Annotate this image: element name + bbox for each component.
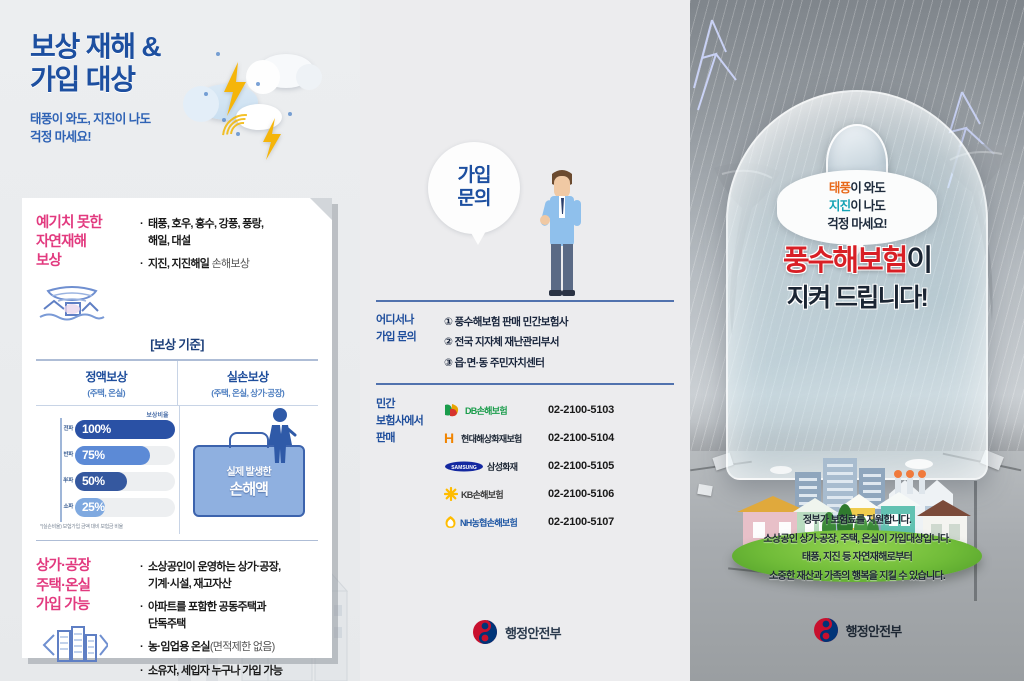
card-folded-corner [310, 198, 332, 220]
bullet-dot-icon: · [140, 599, 148, 632]
insurer-logo: H 현대해상화재보험 [444, 431, 548, 445]
table-row: SAMSUNG 삼성화재 02-2100-5105 [444, 452, 614, 480]
bullet-light: (면적제한 없음) [210, 641, 275, 653]
bullet-dot-icon: · [140, 663, 148, 680]
criteria-content: 보상비율 전파 100% 반파 75% [36, 406, 318, 534]
rain-cloud-icon [196, 84, 258, 120]
bar-value: 25% [75, 498, 105, 517]
sellers-label-line2: 보험사에서 [376, 413, 444, 430]
taegeuk-logo [472, 619, 498, 645]
left-subtitle: 태풍이 와도, 지진이 나도 걱정 마세요! [30, 110, 160, 146]
left-title-line1: 보상 재해 & [30, 30, 160, 63]
bullet-text: 지진, 지진해일 손해보상 [148, 256, 318, 273]
bubble-highlight-earthquake: 지진 [829, 199, 850, 213]
cloud-icon [905, 459, 933, 469]
bar-category-label: 소파 [62, 505, 75, 511]
chart-caption: 보상비율 [146, 410, 168, 419]
column-scope: (주택, 온실) [36, 387, 177, 399]
bullet-main: 지진, 지진해일 [148, 258, 209, 270]
insurer-phone[interactable]: 02-2100-5106 [548, 488, 614, 500]
insurer-phone[interactable]: 02-2100-5104 [548, 432, 614, 444]
insurer-name: KB손해보험 [461, 488, 503, 501]
section2-heading: 상가·공장 주택·온실 가입 가능 [36, 557, 140, 614]
insurer-phone[interactable]: 02-2100-5107 [548, 516, 614, 528]
bullet-text: 태풍, 호우, 홍수, 강풍, 풍랑, 해일, 대설 [148, 216, 318, 249]
table-row: DB손해보험 02-2100-5103 [444, 396, 614, 424]
inquiry-speech-bubble: 가입 문의 [428, 142, 520, 234]
svg-text:H: H [444, 431, 454, 445]
left-panel: 보상 재해 & 가입 대상 태풍이 와도, 지진이 나도 걱정 마세요! 예기치… [0, 0, 360, 681]
bullet-main: 태풍, 호우, 홍수, 강풍, 풍랑, [148, 218, 263, 230]
column-title: 정액보상 [36, 368, 177, 385]
column-scope: (주택, 온실, 상가·공장) [178, 387, 319, 399]
raindrop-icon [216, 52, 220, 56]
right-footer-text: 정부가 보험료를 지원합니다. 소상공인 상가·공장, 주택, 온실이 가입대상… [690, 512, 1024, 586]
bullet-main2: 기계·시설, 재고자산 [148, 578, 231, 590]
bubble-line3: 걱정 마세요! [783, 215, 931, 233]
sellers-label-line1: 민간 [376, 396, 444, 413]
bubble-highlight-typhoon: 태풍 [829, 181, 850, 195]
flood-house-icon [36, 279, 108, 321]
criteria-columns: 정액보상 (주택, 온실) 실손보상 (주택, 온실, 상가·공장) [36, 361, 318, 405]
list-item: · 소유자, 세입자 누구나 가입 가능 [140, 663, 318, 680]
list-item: ① 풍수해보험 판매 민간보험사 [444, 312, 568, 332]
bullet-dot-icon: · [140, 559, 148, 592]
headline-particle: 이 [906, 245, 931, 277]
chart-bar-row: 半파 50% [62, 470, 175, 493]
section1-heading-line1: 예기치 못한 [36, 214, 140, 233]
right-headline: 풍수해보험이 지켜 드립니다! [690, 246, 1024, 314]
kb-star-icon [444, 487, 458, 501]
bullet-dot-icon: · [140, 639, 148, 656]
wind-arc-icon [219, 111, 270, 162]
bar-category-label: 전파 [62, 427, 75, 433]
insurer-phone[interactable]: 02-2100-5105 [548, 460, 614, 472]
chart-bars: 전파 100% 반파 75% 半파 [36, 418, 175, 519]
loss-box-line2: 손해액 [230, 478, 268, 499]
wind-arc-icon [213, 105, 278, 170]
section1-heading-line2: 자연재해 [36, 233, 140, 252]
criteria-title: [보상 기준] [22, 334, 332, 359]
section2-heading-line3: 가입 가능 [36, 596, 140, 615]
insurer-name: DB손해보험 [465, 404, 507, 417]
section2-heading-line2: 주택·온실 [36, 577, 140, 596]
debris-chunk [697, 484, 713, 496]
left-title: 보상 재해 & 가입 대상 [30, 30, 160, 96]
bullet-main2: 단독주택 [148, 618, 186, 630]
insurer-name: 삼성화재 [487, 460, 517, 473]
bar-track: 100% [75, 420, 175, 439]
raindrop-icon [222, 118, 226, 122]
insurer-logo: KB손해보험 [444, 487, 548, 501]
bullet-text: 소상공인이 운영하는 상가·공장, 기계·시설, 재고자산 [148, 559, 318, 592]
insurer-logo: DB손해보험 [444, 403, 548, 417]
compensation-ratio-chart: 보상비율 전파 100% 반파 75% [36, 406, 179, 534]
section1-heading: 예기치 못한 자연재해 보상 [36, 214, 140, 271]
list-item: · 아파트를 포함한 공동주택과 단독주택 [140, 599, 318, 632]
list-item: ③ 읍·면·동 주민자치센터 [444, 353, 568, 373]
bullet-dot-icon: · [140, 216, 148, 249]
table-row: NH농협손해보험 02-2100-5107 [444, 508, 614, 536]
section2-heading-block: 상가·공장 주택·온실 가입 가능 [36, 557, 140, 681]
column-title: 실손보상 [178, 368, 319, 385]
svg-text:SAMSUNG: SAMSUNG [451, 465, 477, 471]
bar-track: 25% [75, 498, 175, 517]
footer-line: 태풍, 지진 등 자연재해로부터 [690, 549, 1024, 568]
ministry-logo-block: 행정안전부 [690, 617, 1024, 643]
insurer-name: 현대해상화재보험 [461, 432, 522, 445]
brochure-page: 보상 재해 & 가입 대상 태풍이 와도, 지진이 나도 걱정 마세요! 예기치… [0, 0, 1024, 681]
footer-line: 정부가 보험료를 지원합니다. [690, 512, 1024, 531]
inquiry-label-line2: 가입 문의 [376, 329, 444, 346]
cloud-icon [770, 466, 792, 474]
headline-product-name: 풍수해보험 [783, 245, 906, 277]
inquiry-list: ① 풍수해보험 판매 민간보험사 ② 전국 지자체 재난관리부서 ③ 읍·면·동… [444, 312, 568, 373]
left-subtitle-line2: 걱정 마세요! [30, 128, 160, 146]
chart-bar-row: 반파 75% [62, 444, 175, 467]
insurer-logo: NH농협손해보험 [444, 515, 548, 529]
list-item: · 소상공인이 운영하는 상가·공장, 기계·시설, 재고자산 [140, 559, 318, 592]
bar-track: 50% [75, 472, 175, 491]
inquiry-label: 어디서나 가입 문의 [376, 312, 444, 373]
section1-heading-line3: 보상 [36, 252, 140, 271]
businessman-icon [263, 407, 297, 463]
bullet-light: 손해보상 [212, 258, 250, 270]
table-row: H 현대해상화재보험 02-2100-5104 [444, 424, 614, 452]
bubble-line1: 가입 [458, 165, 491, 188]
right-panel: 태풍이 와도 지진이 나도 걱정 마세요! 풍수해보험이 지켜 드립니다! 정부… [690, 0, 1024, 681]
column-actual-compensation: 실손보상 (주택, 온실, 상가·공장) [177, 361, 319, 405]
bar-value: 50% [75, 472, 127, 491]
headline-line1: 풍수해보험이 [690, 246, 1024, 276]
actual-loss-illustration: 실제 발생한 손해액 [179, 406, 319, 534]
ministry-name: 행정안전부 [505, 623, 561, 642]
bubble-text: 이 나도 [850, 199, 885, 213]
insurer-logo: SAMSUNG 삼성화재 [444, 460, 548, 473]
samsung-logo-icon: SAMSUNG [444, 461, 484, 472]
divider [376, 300, 674, 302]
left-subtitle-line1: 태풍이 와도, 지진이 나도 [30, 110, 160, 128]
footer-line: 소중한 재산과 가족의 행복을 지킬 수 있습니다. [690, 568, 1024, 587]
chart-axis [60, 418, 62, 522]
right-speech-bubble: 태풍이 와도 지진이 나도 걱정 마세요! [777, 170, 937, 245]
sellers-label-line3: 판매 [376, 430, 444, 447]
section-natural-disaster: 예기치 못한 자연재해 보상 [22, 198, 332, 330]
ministry-logo-block: 행정안전부 [472, 619, 561, 645]
headline-line2: 지켜 드립니다! [690, 278, 1024, 314]
bar-category-label: 半파 [62, 479, 75, 485]
left-header: 보상 재해 & 가입 대상 태풍이 와도, 지진이 나도 걱정 마세요! [30, 30, 160, 146]
nh-logo-icon [444, 515, 457, 529]
section2-heading-line1: 상가·공장 [36, 557, 140, 576]
bar-value: 100% [75, 420, 175, 439]
db-logo-icon [444, 403, 462, 417]
left-title-line2: 가입 대상 [30, 63, 160, 96]
bullet-main: 아파트를 포함한 공동주택과 [148, 601, 266, 613]
list-item: · 태풍, 호우, 홍수, 강풍, 풍랑, 해일, 대설 [140, 216, 318, 249]
bullet-text: 농·임업용 온실(면적제한 없음) [148, 639, 318, 656]
bullet-main: 소유자, 세입자 누구나 가입 가능 [148, 663, 318, 680]
section1-heading-block: 예기치 못한 자연재해 보상 [36, 214, 140, 326]
businessman-pointing-icon [538, 160, 586, 300]
insurer-name: NH농협손해보험 [460, 516, 517, 529]
chart-footnote: *(실손비율) 보험가입 금액 대비 보험금 비율 [40, 523, 175, 530]
chart-bar-row: 전파 100% [62, 418, 175, 441]
taegeuk-logo [813, 617, 839, 643]
inquiry-section: 어디서나 가입 문의 ① 풍수해보험 판매 민간보험사 ② 전국 지자체 재난관… [376, 312, 676, 373]
column-fixed-compensation: 정액보상 (주택, 온실) [36, 361, 177, 405]
cloud-icon [258, 54, 314, 88]
section2-bullets: · 소상공인이 운영하는 상가·공장, 기계·시설, 재고자산 · 아파트를 포… [140, 557, 318, 681]
bubble-text: 이 와도 [850, 181, 885, 195]
raindrop-icon [204, 92, 208, 96]
sellers-list: DB손해보험 02-2100-5103 H 현대해상화재보험 02-2100-5… [444, 396, 614, 536]
bubble-line2: 문의 [458, 188, 491, 211]
ministry-name: 행정안전부 [846, 621, 902, 640]
list-item: · 지진, 지진해일 손해보상 [140, 256, 318, 273]
bullet-text: 아파트를 포함한 공동주택과 단독주택 [148, 599, 318, 632]
raindrop-icon [256, 82, 260, 86]
bubble-line1: 태풍이 와도 [783, 179, 931, 197]
middle-panel: 가입 문의 어디서나 가입 문의 ① 풍수해보험 판매 민간보험사 [360, 0, 690, 681]
bullet-main: 소상공인이 운영하는 상가·공장, [148, 561, 281, 573]
section-eligibility: 상가·공장 주택·온실 가입 가능 [22, 541, 332, 681]
buildings-icon [36, 623, 108, 665]
section1-bullets: · 태풍, 호우, 홍수, 강풍, 풍랑, 해일, 대설 · 지진, 지진해일 … [140, 214, 318, 326]
chart-bar-row: 소파 25% [62, 496, 175, 519]
bar-category-label: 반파 [62, 453, 75, 459]
inquiry-label-line1: 어디서나 [376, 312, 444, 329]
table-row: KB손해보험 02-2100-5106 [444, 480, 614, 508]
sellers-section: 민간 보험사에서 판매 DB손해보험 02-2100-5103 [376, 396, 676, 536]
raindrop-icon [236, 132, 240, 136]
briefcase-icon: 실제 발생한 손해액 [193, 445, 305, 517]
list-item: ② 전국 지자체 재난관리부서 [444, 332, 568, 352]
footer-line: 소상공인 상가·공장, 주택, 온실이 가입대상입니다. [690, 531, 1024, 550]
sellers-label: 민간 보험사에서 판매 [376, 396, 444, 536]
insurer-phone[interactable]: 02-2100-5103 [548, 404, 614, 416]
bullet-main: 농·임업용 온실 [148, 641, 210, 653]
bullet-dot-icon: · [140, 256, 148, 273]
loss-box-line1: 실제 발생한 [226, 463, 271, 478]
cloud-icon [236, 104, 282, 130]
wind-arc-icon [225, 117, 262, 154]
bullet-main2: 해일, 대설 [148, 235, 190, 247]
divider [376, 383, 674, 385]
hyundai-logo-icon: H [444, 431, 458, 445]
bar-track: 75% [75, 446, 175, 465]
list-item: · 농·임업용 온실(면적제한 없음) [140, 639, 318, 656]
raindrop-icon [288, 112, 292, 116]
bubble-line2: 지진이 나도 [783, 197, 931, 215]
info-card: 예기치 못한 자연재해 보상 [22, 198, 332, 658]
bar-value: 75% [75, 446, 150, 465]
